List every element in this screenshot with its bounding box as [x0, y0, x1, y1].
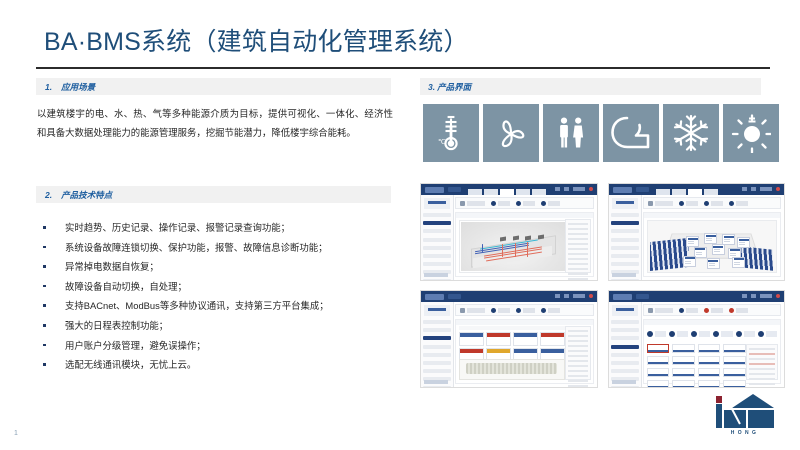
- toolbar-chip: [460, 201, 485, 206]
- app-tabstrip: [468, 189, 546, 196]
- app-titlebar: [609, 184, 785, 195]
- scene-paragraph: 以建筑楼宇的电、水、热、气等多种能源介质为目标，提供可视化、一体化、经济性和具备…: [37, 104, 393, 142]
- app-home-tab: [636, 294, 649, 299]
- bms-device-card-dashboard[interactable]: [420, 290, 598, 388]
- feature-list-item: 支持BACnet、ModBus等多种协议通讯，支持第三方平台集成；: [37, 296, 407, 316]
- floorplan-stage: [647, 220, 778, 273]
- kpi-item: [647, 331, 666, 337]
- toolbar-chip: [648, 308, 673, 313]
- device-card-grid: [459, 332, 565, 362]
- status-cell: [723, 368, 746, 377]
- metrics-panel: [565, 219, 591, 273]
- device-card: [459, 332, 484, 346]
- status-cell: [698, 380, 721, 388]
- app-titlebar: [609, 291, 785, 302]
- app-titlebar: [421, 291, 597, 302]
- sidebar-footer: [424, 273, 448, 277]
- sidebar-clock: [612, 198, 638, 209]
- app-window-controls: [742, 187, 780, 191]
- app-window-controls: [555, 294, 593, 298]
- feature-list-item: 实时趋势、历史记录、操作记录、报警记录查询功能；: [37, 218, 407, 238]
- product-screenshot-grid: [420, 183, 785, 388]
- sidebar-clock: [424, 305, 450, 316]
- logo-mark: [716, 394, 774, 428]
- status-cell: [698, 368, 721, 377]
- canvas-header: [456, 320, 593, 325]
- kpi-row: [647, 327, 778, 340]
- toolbar-chip: [460, 308, 485, 313]
- app-toolbar: [455, 304, 594, 316]
- sidebar-tree: [423, 320, 451, 388]
- app-logo: [425, 187, 444, 193]
- page-title: BA·BMS系统（建筑自动化管理系统）: [44, 22, 469, 58]
- sidebar-tree: [423, 213, 451, 281]
- title-divider: [36, 67, 770, 69]
- restroom-occupancy-icon: [543, 104, 599, 162]
- status-cell: [672, 344, 695, 353]
- sidebar-footer: [424, 380, 448, 384]
- feature-list-item: 异常掉电数据自恢复；: [37, 257, 407, 277]
- section-header-features: 2. 产品技术特点: [36, 186, 391, 203]
- app-toolbar: [643, 304, 782, 316]
- bms-status-grid-dashboard[interactable]: [608, 290, 786, 388]
- system-icon-strip: ℃: [423, 104, 785, 162]
- canvas-header: [644, 320, 781, 325]
- app-home-tab: [448, 187, 461, 192]
- bms-floorplan-device-view[interactable]: [608, 183, 786, 281]
- status-cell: [647, 380, 670, 388]
- feature-list: 实时趋势、历史记录、操作记录、报警记录查询功能；系统设备故障连锁切换、保护功能，…: [37, 218, 407, 375]
- app-window-controls: [742, 294, 780, 298]
- toolbar-chip: [679, 308, 698, 313]
- app-tabstrip: [656, 189, 718, 196]
- alarm-panel: [746, 344, 778, 380]
- pipework-3d-image: [461, 222, 565, 271]
- sidebar-clock: [424, 198, 450, 209]
- sidebar-tree: [611, 213, 639, 281]
- toolbar-chip: [704, 201, 723, 206]
- section-label: 应用场景: [61, 81, 95, 93]
- section-label: 产品界面: [437, 81, 471, 93]
- metrics-panel: [565, 326, 591, 380]
- status-cell: [723, 356, 746, 365]
- app-sidebar: [421, 195, 454, 280]
- status-cell: [723, 344, 746, 353]
- toolbar-chip: [729, 308, 748, 313]
- app-toolbar: [455, 197, 594, 209]
- feature-list-item: 系统设备故障连锁切换、保护功能，报警、故障信息诊断功能；: [37, 238, 407, 258]
- equipment-plan-image: [466, 363, 557, 375]
- status-cell: [672, 380, 695, 388]
- status-cell: [672, 356, 695, 365]
- toolbar-chip: [516, 201, 535, 206]
- app-logo: [425, 294, 444, 300]
- equipment-plan: [459, 359, 565, 380]
- toolbar-chip: [491, 201, 510, 206]
- app-sidebar: [609, 195, 642, 280]
- app-canvas: [643, 319, 782, 384]
- toolbar-chip: [729, 201, 748, 206]
- app-window-controls: [555, 187, 593, 191]
- app-sidebar: [421, 302, 454, 387]
- toolbar-chip: [679, 201, 698, 206]
- status-cell: [672, 368, 695, 377]
- snowflake-cooling-icon: [663, 104, 719, 162]
- kpi-item: [669, 331, 688, 337]
- app-canvas: [455, 212, 594, 277]
- app-logo: [613, 187, 632, 193]
- section-number: 3.: [428, 82, 435, 92]
- sidebar-footer: [612, 273, 636, 277]
- fan-blade-icon: [483, 104, 539, 162]
- toolbar-chip: [704, 308, 723, 313]
- toolbar-chip: [491, 308, 510, 313]
- lighting-bulb-icon: [723, 104, 779, 162]
- sidebar-clock: [612, 305, 638, 316]
- thermometer-celsius-icon: ℃: [423, 104, 479, 162]
- app-canvas: [643, 212, 782, 277]
- section-header-interface: 3. 产品界面: [420, 78, 761, 95]
- feature-list-item: 强大的日程表控制功能；: [37, 316, 407, 336]
- company-logo: HONG: [716, 394, 774, 440]
- sidebar-tree: [611, 320, 639, 388]
- app-titlebar: [421, 184, 597, 195]
- logo-wordmark: HONG: [716, 430, 774, 436]
- slide-canvas: BA·BMS系统（建筑自动化管理系统） 1. 应用场景 以建筑楼宇的电、水、热、…: [0, 0, 800, 450]
- feature-list-item: 用户账户分级管理，避免误操作；: [37, 336, 407, 356]
- status-cell: [647, 368, 670, 377]
- app-canvas: [455, 319, 594, 384]
- status-cell: [698, 356, 721, 365]
- device-card: [540, 332, 565, 346]
- section-header-scene: 1. 应用场景: [36, 78, 391, 95]
- device-card: [513, 332, 538, 346]
- kpi-item: [691, 331, 710, 337]
- kpi-item: [736, 331, 755, 337]
- kpi-item: [713, 331, 732, 337]
- toolbar-chip: [541, 308, 560, 313]
- device-card: [486, 332, 511, 346]
- app-logo: [613, 294, 632, 300]
- status-cell: [723, 380, 746, 388]
- app-home-tab: [448, 294, 461, 299]
- blower-fan-icon: [603, 104, 659, 162]
- solar-array-right: [740, 246, 773, 271]
- section-label: 产品技术特点: [61, 189, 112, 201]
- feature-list-item: 故障设备自动切换，自处理；: [37, 277, 407, 297]
- pipework-3d-stage: [459, 220, 567, 273]
- app-sidebar: [609, 302, 642, 387]
- app-home-tab: [636, 187, 649, 192]
- canvas-header: [456, 213, 593, 218]
- toolbar-chip: [648, 201, 673, 206]
- toolbar-chip: [516, 308, 535, 313]
- filter-row: [459, 326, 565, 330]
- status-cell: [647, 356, 670, 365]
- sidebar-footer: [612, 380, 636, 384]
- app-toolbar: [643, 197, 782, 209]
- svg-text:℃: ℃: [438, 139, 446, 146]
- status-cell: [698, 344, 721, 353]
- bms-3d-pipework-view[interactable]: [420, 183, 598, 281]
- status-cell: [647, 344, 670, 353]
- kpi-item: [758, 331, 777, 337]
- section-number: 2.: [45, 190, 52, 200]
- feature-list-item: 选配无线通讯模块，无忧上云。: [37, 355, 407, 375]
- status-grid: [647, 344, 747, 380]
- toolbar-chip: [541, 201, 560, 206]
- section-number: 1.: [45, 82, 52, 92]
- page-number: 1: [14, 430, 18, 437]
- canvas-header: [644, 213, 781, 218]
